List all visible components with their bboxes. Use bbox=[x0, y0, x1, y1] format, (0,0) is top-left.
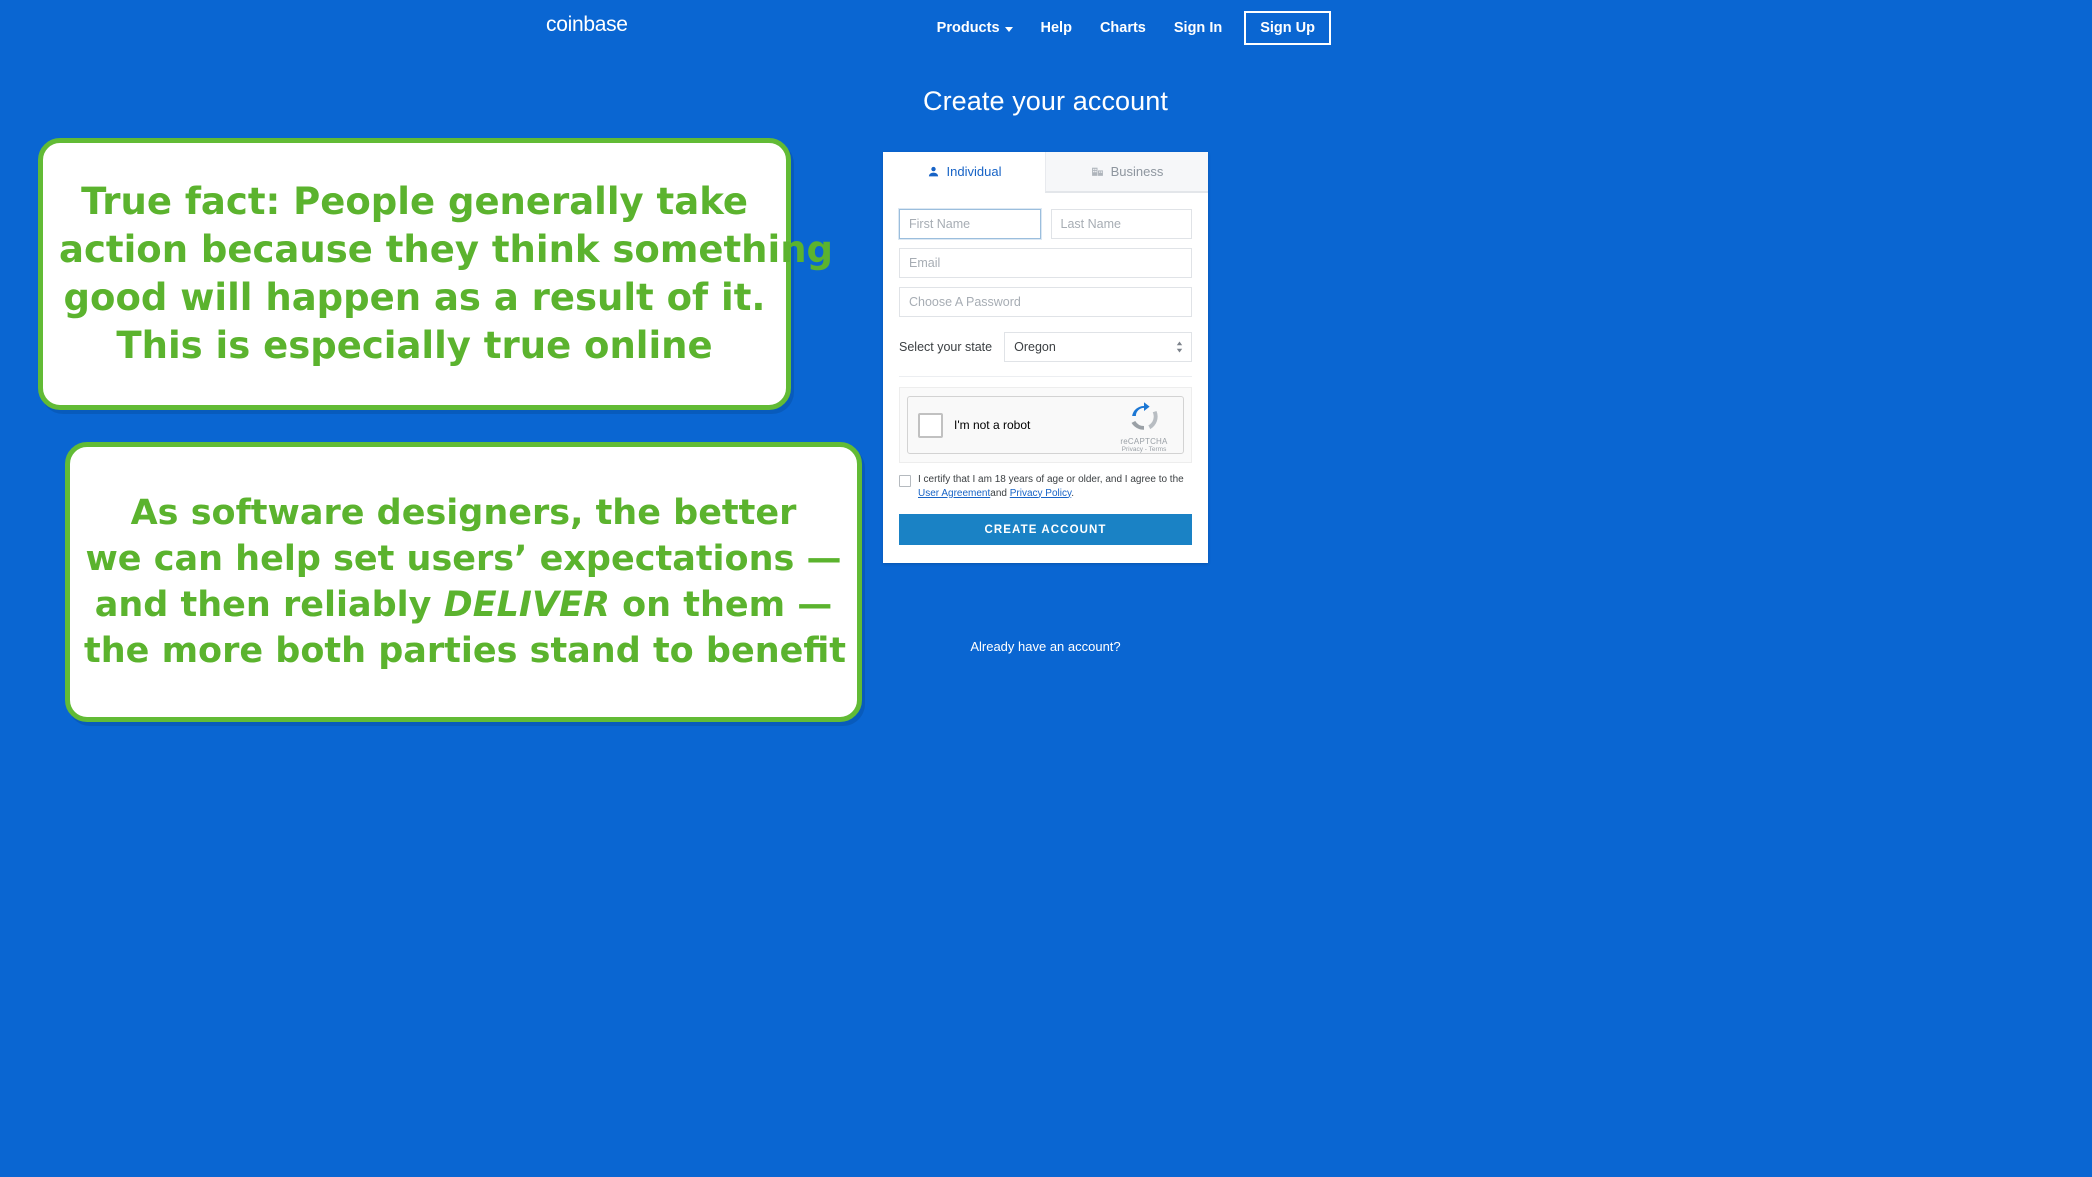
tab-business[interactable]: Business bbox=[1045, 152, 1208, 192]
certify-period: . bbox=[1071, 488, 1074, 499]
top-navigation-bar: coinbase Products Help Charts Sign In Si… bbox=[0, 0, 2092, 56]
annotation-line: True fact: People generally take bbox=[59, 178, 770, 226]
annotation-line: This is especially true online bbox=[59, 322, 770, 370]
certify-conjunction: and bbox=[990, 488, 1007, 499]
nav-link-help[interactable]: Help bbox=[1027, 14, 1086, 42]
annotation-line: we can help set users’ expectations — bbox=[84, 536, 843, 582]
name-row bbox=[899, 209, 1192, 239]
nav-links-group: Products Help Charts Sign In Sign Up bbox=[923, 0, 2092, 56]
user-agreement-link[interactable]: User Agreement bbox=[918, 488, 990, 499]
recaptcha-logo-icon bbox=[1129, 401, 1159, 431]
email-input[interactable] bbox=[899, 248, 1192, 278]
coinbase-logo[interactable]: coinbase bbox=[546, 13, 628, 37]
recaptcha-branding: reCAPTCHA Privacy - Terms bbox=[1113, 401, 1175, 453]
recaptcha-checkbox[interactable] bbox=[918, 413, 943, 438]
recaptcha-label: I'm not a robot bbox=[954, 418, 1030, 432]
page-title-wrapper: Create your account bbox=[883, 86, 1208, 117]
select-stepper-icon bbox=[1176, 341, 1183, 353]
last-name-input[interactable] bbox=[1051, 209, 1193, 239]
state-select-value: Oregon bbox=[1014, 340, 1056, 354]
page-title: Create your account bbox=[883, 86, 1208, 117]
account-type-tabs: Individual Business bbox=[883, 152, 1208, 193]
signup-form: Select your state Oregon I'm not a robot bbox=[883, 193, 1208, 563]
password-input[interactable] bbox=[899, 287, 1192, 317]
already-have-account-link[interactable]: Already have an account? bbox=[883, 639, 1208, 654]
certify-row: I certify that I am 18 years of age or o… bbox=[899, 473, 1192, 500]
nav-link-products[interactable]: Products bbox=[923, 14, 1027, 42]
annotation-callout-1: True fact: People generally take action … bbox=[38, 138, 791, 410]
tab-individual-label: Individual bbox=[947, 164, 1002, 179]
signup-card: Individual Business Select your state Or… bbox=[883, 152, 1208, 563]
captcha-section: I'm not a robot reCAPTCHA Privacy - Term… bbox=[899, 376, 1192, 463]
state-select[interactable]: Oregon bbox=[1004, 332, 1192, 362]
nav-link-sign-in[interactable]: Sign In bbox=[1160, 14, 1236, 42]
nav-sign-up-button[interactable]: Sign Up bbox=[1244, 11, 1331, 45]
create-account-button[interactable]: CREATE ACCOUNT bbox=[899, 514, 1192, 545]
annotation-callout-2: As software designers, the better we can… bbox=[65, 442, 862, 722]
certify-text: I certify that I am 18 years of age or o… bbox=[918, 473, 1192, 500]
nav-link-products-label: Products bbox=[937, 20, 1000, 36]
tab-individual[interactable]: Individual bbox=[883, 152, 1045, 193]
annotation-line: and then reliably DELIVER on them — bbox=[84, 582, 843, 628]
annotation-line: the more both parties stand to benefit bbox=[84, 628, 843, 674]
captcha-shell: I'm not a robot reCAPTCHA Privacy - Term… bbox=[899, 387, 1192, 463]
tab-business-label: Business bbox=[1111, 164, 1164, 179]
email-row bbox=[899, 248, 1192, 278]
certify-text-before: I certify that I am 18 years of age or o… bbox=[918, 474, 1184, 485]
recaptcha-brand-text: reCAPTCHA bbox=[1113, 437, 1175, 446]
annotation-line: good will happen as a result of it. bbox=[59, 274, 770, 322]
recaptcha-widget[interactable]: I'm not a robot reCAPTCHA Privacy - Term… bbox=[907, 396, 1184, 454]
state-row: Select your state Oregon bbox=[899, 332, 1192, 362]
first-name-input[interactable] bbox=[899, 209, 1041, 239]
certify-checkbox[interactable] bbox=[899, 475, 911, 487]
chevron-down-icon bbox=[1005, 27, 1013, 32]
annotation-line: As software designers, the better bbox=[84, 490, 843, 536]
recaptcha-privacy-terms[interactable]: Privacy - Terms bbox=[1113, 446, 1175, 453]
person-icon bbox=[927, 165, 940, 178]
privacy-policy-link[interactable]: Privacy Policy bbox=[1010, 488, 1072, 499]
annotation-line: action because they think something bbox=[59, 226, 770, 274]
nav-link-charts[interactable]: Charts bbox=[1086, 14, 1160, 42]
password-row bbox=[899, 287, 1192, 317]
state-label: Select your state bbox=[899, 340, 992, 354]
building-icon bbox=[1091, 165, 1104, 178]
